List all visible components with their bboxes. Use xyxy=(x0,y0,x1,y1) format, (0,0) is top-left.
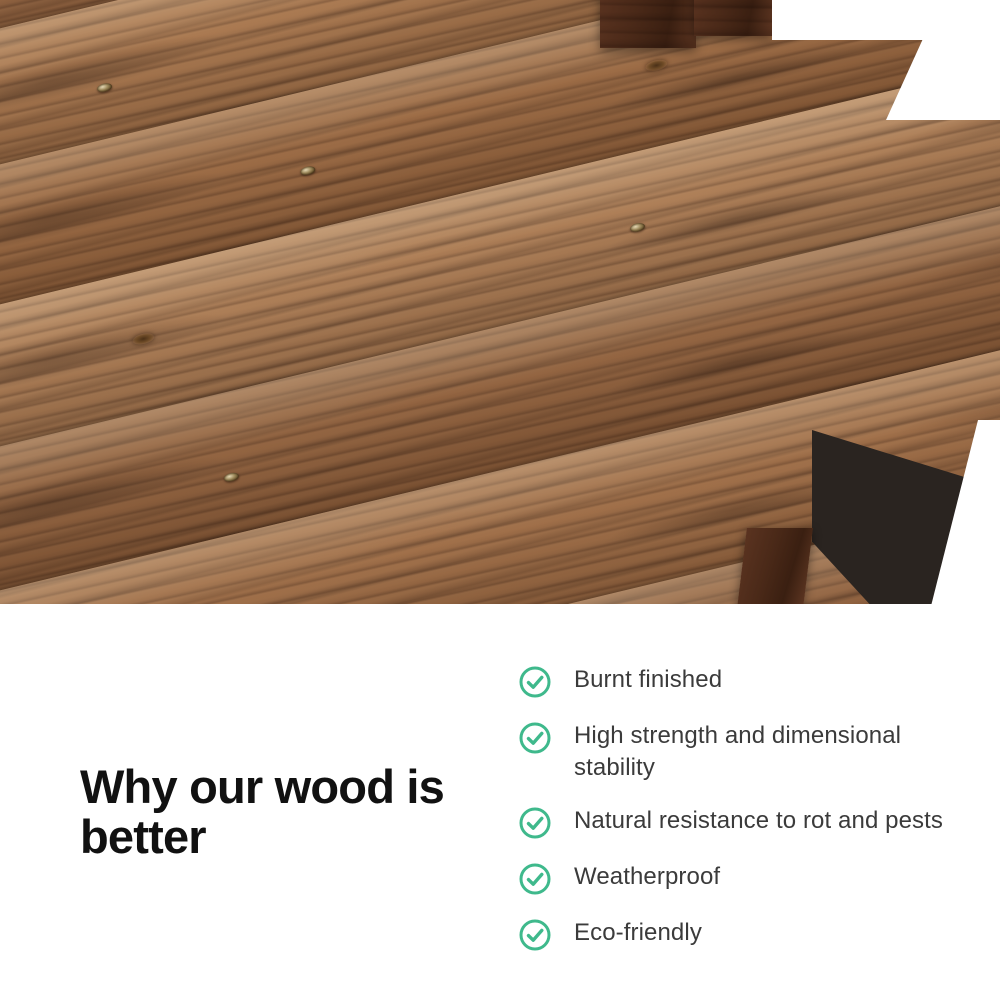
feature-label: Weatherproof xyxy=(574,861,720,893)
page-title: Why our wood isbetter xyxy=(80,762,500,862)
check-circle-icon xyxy=(518,721,552,755)
feature-list: Burnt finished High strength and dimensi… xyxy=(518,664,968,952)
feature-label: Burnt finished xyxy=(574,664,722,696)
feature-label: Natural resistance to rot and pests xyxy=(574,805,943,837)
list-item: Eco-friendly xyxy=(518,917,968,952)
list-item: Weatherproof xyxy=(518,861,968,896)
list-item: High strength and dimensional stability xyxy=(518,720,968,784)
check-circle-icon xyxy=(518,806,552,840)
product-feature-page: Why our wood isbetter Burnt finished Hig… xyxy=(0,0,1000,1000)
photo-canvas xyxy=(0,0,1000,604)
check-circle-icon xyxy=(518,918,552,952)
bench-backrest-post xyxy=(600,0,696,48)
bench-leg xyxy=(737,528,813,604)
page-title-line-1: Why our wood is xyxy=(80,760,444,813)
feature-label: Eco-friendly xyxy=(574,917,702,949)
page-title-line-2: better xyxy=(80,810,206,863)
bench-backrest-post xyxy=(694,0,772,36)
feature-label: High strength and dimensional stability xyxy=(574,720,968,784)
list-item: Natural resistance to rot and pests xyxy=(518,805,968,840)
check-circle-icon xyxy=(518,862,552,896)
list-item: Burnt finished xyxy=(518,664,968,699)
check-circle-icon xyxy=(518,665,552,699)
product-photo xyxy=(0,0,1000,604)
